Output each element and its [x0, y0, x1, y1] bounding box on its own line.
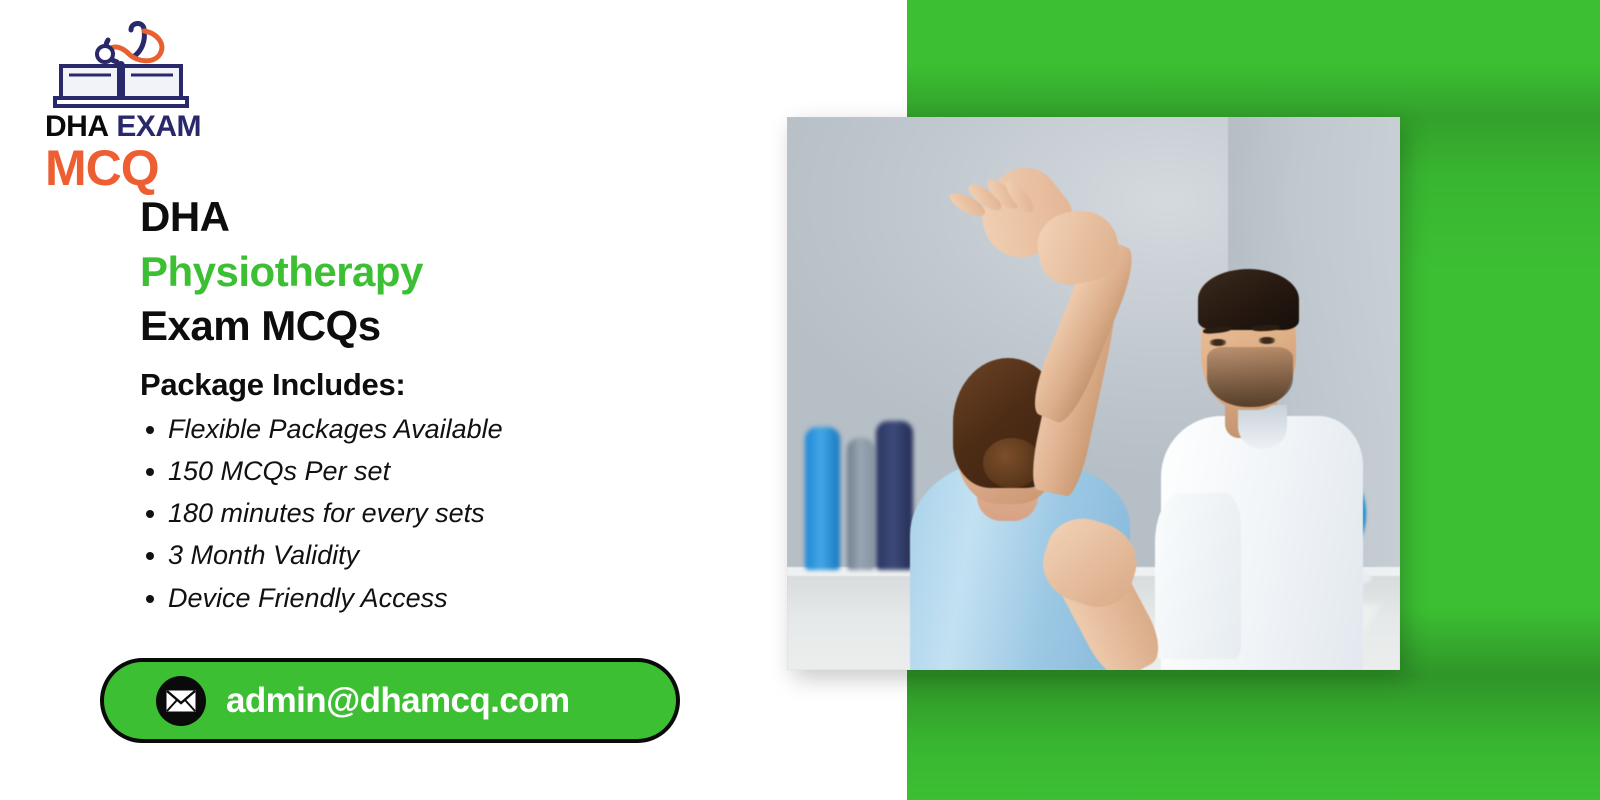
list-item: 3 Month Validity — [168, 534, 503, 576]
physiotherapy-photo — [787, 117, 1400, 670]
foam-roller-navy — [876, 421, 913, 570]
content-column: DHA EXAM MCQ DHA Physiotherapy Exam MCQs… — [0, 0, 790, 800]
package-title: Package Includes: — [140, 368, 503, 402]
envelope-icon — [156, 676, 206, 726]
list-item: 180 minutes for every sets — [168, 492, 503, 534]
photo-scene — [787, 117, 1400, 670]
logo-word-dha: DHA — [45, 110, 109, 143]
email-contact-button[interactable]: admin@dhamcq.com — [100, 658, 680, 743]
package-feature-list: Flexible Packages Available 150 MCQs Per… — [140, 408, 503, 619]
brand-logo[interactable]: DHA EXAM MCQ — [45, 18, 255, 193]
list-item: 150 MCQs Per set — [168, 450, 503, 492]
stethoscope-book-icon — [45, 18, 255, 110]
therapist-collar — [1238, 405, 1287, 449]
promo-banner: DHA EXAM MCQ DHA Physiotherapy Exam MCQs… — [0, 0, 1600, 800]
email-address: admin@dhamcq.com — [226, 681, 569, 721]
package-section: Package Includes: Flexible Packages Avai… — [140, 368, 503, 619]
therapist-beard — [1207, 347, 1293, 408]
logo-wordmark: DHA EXAM MCQ — [45, 112, 255, 193]
foam-roller-grey — [847, 438, 875, 571]
headline-line-3: Exam MCQs — [140, 299, 423, 354]
therapist-sleeve — [1155, 493, 1241, 659]
logo-word-mcq: MCQ — [45, 143, 255, 193]
foam-roller-blue — [805, 427, 839, 571]
list-item: Flexible Packages Available — [168, 408, 503, 450]
headline-line-1: DHA — [140, 190, 423, 245]
therapist-hair — [1198, 269, 1299, 330]
headline-line-2: Physiotherapy — [140, 245, 423, 300]
therapist-eye — [1209, 339, 1227, 346]
list-item: Device Friendly Access — [168, 577, 503, 619]
headline: DHA Physiotherapy Exam MCQs — [140, 190, 423, 354]
logo-word-exam: EXAM — [116, 110, 201, 143]
